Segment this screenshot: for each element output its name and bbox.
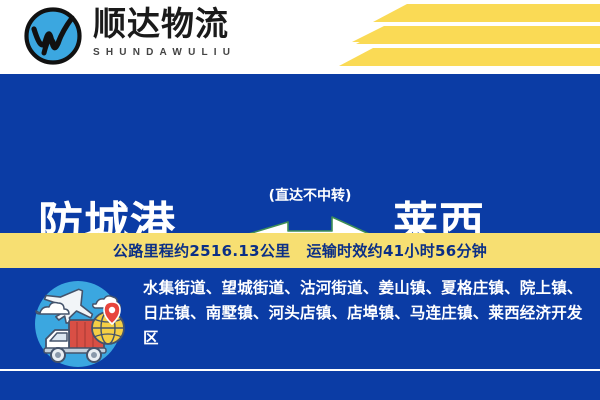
banner-header: 顺达物流 SHUNDAWULIU bbox=[0, 0, 600, 74]
route-info-bar: 公路里程约2516.13公里 运输时效约41小时56分钟 bbox=[0, 233, 600, 268]
duration-text: 运输时效约41小时56分钟 bbox=[306, 240, 487, 261]
circle-swoosh-logo-icon bbox=[22, 5, 84, 67]
logistics-route-banner: 顺达物流 SHUNDAWULIU 防城港 (直达不中转) 【往返运输】 莱西 公… bbox=[0, 0, 600, 400]
brand-name-en: SHUNDAWULIU bbox=[93, 46, 236, 60]
brand-name-cn: 顺达物流 bbox=[93, 4, 236, 44]
direct-service-note: (直达不中转) bbox=[240, 186, 380, 206]
distance-text: 公路里程约2516.13公里 bbox=[113, 240, 291, 261]
brand-logo: 顺达物流 SHUNDAWULIU bbox=[22, 4, 236, 67]
coverage-section: 水集街道、望城街道、沽河街道、姜山镇、夏格庄镇、院上镇、日庄镇、南墅镇、河头店镇… bbox=[0, 268, 600, 400]
route-panel: 防城港 (直达不中转) 【往返运输】 莱西 bbox=[0, 74, 600, 233]
decorative-diagonal-stripes bbox=[300, 0, 600, 74]
logistics-truck-globe-icon bbox=[22, 276, 134, 372]
coverage-area-list: 水集街道、望城街道、沽河街道、姜山镇、夏格庄镇、院上镇、日庄镇、南墅镇、河头店镇… bbox=[143, 276, 589, 351]
bottom-divider bbox=[0, 369, 600, 371]
brand-text: 顺达物流 SHUNDAWULIU bbox=[93, 4, 236, 60]
